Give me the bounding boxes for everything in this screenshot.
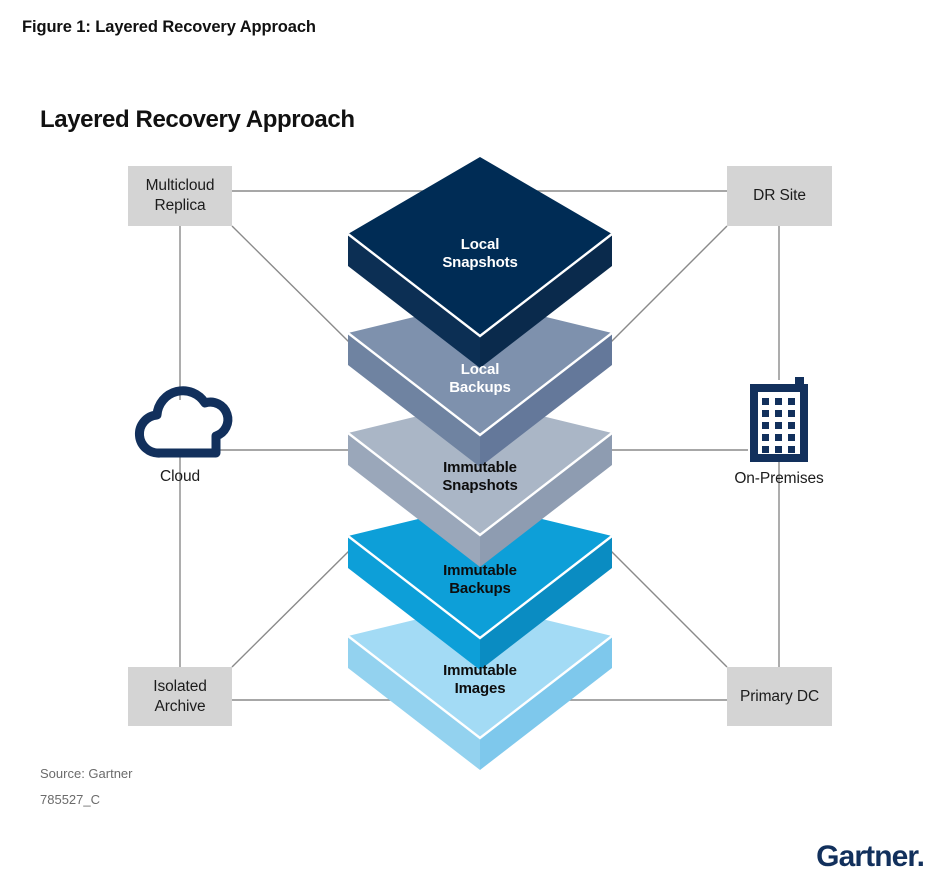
node-primary-dc[interactable]: Primary DC xyxy=(727,667,832,726)
node-multicloud-replica-line1: Multicloud xyxy=(146,176,215,196)
node-isolated-archive[interactable]: Isolated Archive xyxy=(128,667,232,726)
node-primary-dc-label: Primary DC xyxy=(740,687,819,707)
node-multicloud-replica[interactable]: Multicloud Replica xyxy=(128,166,232,226)
slab-local-snapshots-top-face xyxy=(348,157,612,336)
layered-recovery-diagram xyxy=(0,0,946,892)
connector-dr-site-to-local-backups xyxy=(608,226,727,345)
node-isolated-archive-line2: Archive xyxy=(153,697,207,717)
node-isolated-archive-line1: Isolated xyxy=(153,677,207,697)
gartner-logo: Gartner. xyxy=(816,840,924,874)
gartner-logo-dot: . xyxy=(917,840,924,873)
connector-primary-dc-to-immutable-backups xyxy=(608,548,727,667)
node-dr-site-label: DR Site xyxy=(753,186,806,206)
node-multicloud-replica-line2: Replica xyxy=(146,196,215,216)
node-dr-site[interactable]: DR Site xyxy=(727,166,832,226)
gartner-logo-text: Gartner xyxy=(816,840,916,873)
cloud-icon-outline xyxy=(139,391,227,453)
building-icon[interactable] xyxy=(754,377,804,458)
document-id: 785527_C xyxy=(40,792,100,807)
connector-isolated-archive-to-immutable-backups xyxy=(232,548,352,667)
source-line: Source: Gartner xyxy=(40,766,133,781)
connector-multicloud-to-local-backups xyxy=(232,226,352,345)
cloud-icon[interactable] xyxy=(139,391,227,453)
node-on-premises-label: On-Premises xyxy=(709,470,849,488)
building-icon-windows xyxy=(762,398,795,453)
node-cloud-label: Cloud xyxy=(110,468,250,486)
